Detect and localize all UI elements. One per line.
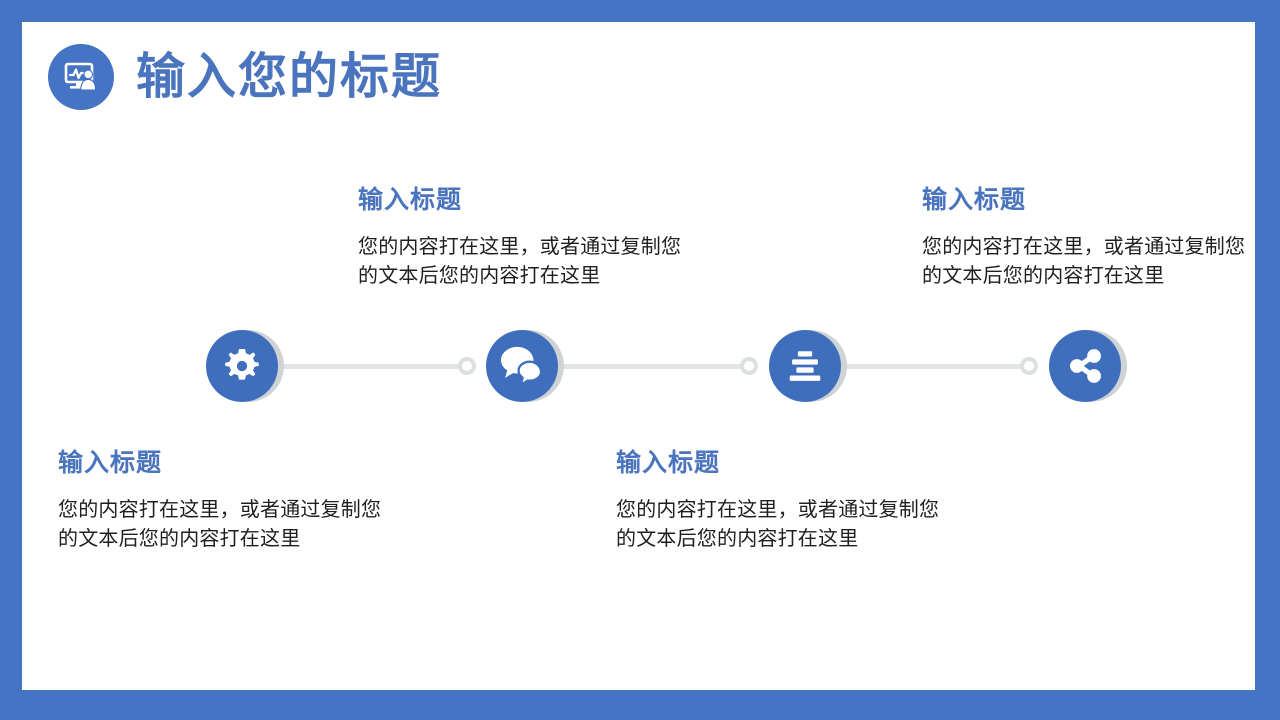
stacked-layers-icon[interactable]: [769, 330, 841, 402]
timeline-node-4[interactable]: [1049, 330, 1121, 402]
timeline-node-3[interactable]: [769, 330, 841, 402]
timeline-rail: [834, 364, 1028, 369]
timeline: [22, 22, 1255, 690]
timeline-connector-dot: [458, 357, 476, 375]
block-body: 您的内容打在这里，或者通过复制您的文本后您的内容打在这里: [616, 496, 946, 555]
timeline-node-2[interactable]: [486, 330, 558, 402]
block-body: 您的内容打在这里，或者通过复制您的文本后您的内容打在这里: [58, 496, 388, 555]
content-block-top-1: 输入标题 您的内容打在这里，或者通过复制您的文本后您的内容打在这里: [358, 187, 688, 292]
content-block-bottom-1: 输入标题 您的内容打在这里，或者通过复制您的文本后您的内容打在这里: [58, 450, 388, 555]
slide-canvas: 输入您的标题: [22, 22, 1255, 690]
timeline-rail: [270, 364, 466, 369]
timeline-connector-dot: [1020, 357, 1038, 375]
block-body: 您的内容打在这里，或者通过复制您的文本后您的内容打在这里: [358, 233, 688, 292]
block-title: 输入标题: [616, 450, 946, 478]
block-title: 输入标题: [922, 187, 1252, 215]
block-title: 输入标题: [358, 187, 688, 215]
timeline-node-1[interactable]: [206, 330, 278, 402]
chat-bubbles-icon[interactable]: [486, 330, 558, 402]
gear-icon[interactable]: [206, 330, 278, 402]
timeline-connector-dot: [740, 357, 758, 375]
block-body: 您的内容打在这里，或者通过复制您的文本后您的内容打在这里: [922, 233, 1252, 292]
slide-frame: 输入您的标题: [0, 0, 1280, 720]
share-network-icon[interactable]: [1049, 330, 1121, 402]
timeline-rail: [550, 364, 748, 369]
content-block-bottom-2: 输入标题 您的内容打在这里，或者通过复制您的文本后您的内容打在这里: [616, 450, 946, 555]
block-title: 输入标题: [58, 450, 388, 478]
content-block-top-2: 输入标题 您的内容打在这里，或者通过复制您的文本后您的内容打在这里: [922, 187, 1252, 292]
